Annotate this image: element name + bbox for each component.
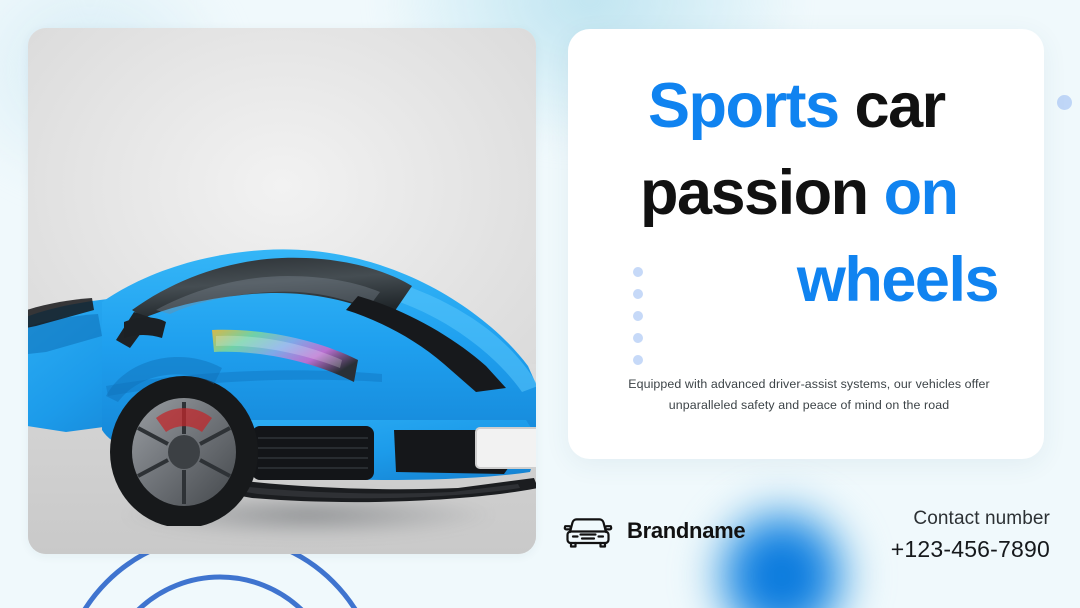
bullet-dots-decoration xyxy=(633,267,643,365)
poster-stage: Sports car passion on wheels Equipped wi… xyxy=(0,0,1080,608)
hero-car-photo xyxy=(28,28,536,554)
bullet-dot-icon xyxy=(633,311,643,321)
body-paragraph: Equipped with advanced driver-assist sys… xyxy=(616,374,1002,416)
headline-line1-dark: car xyxy=(839,71,945,141)
bullet-dot-icon xyxy=(633,267,643,277)
bullet-dot-icon xyxy=(633,355,643,365)
bullet-dot-icon xyxy=(633,333,643,343)
contact-block: Contact number +123-456-7890 xyxy=(891,505,1050,565)
headline-card: Sports car passion on wheels Equipped wi… xyxy=(568,29,1044,459)
brand-name: Brandname xyxy=(627,518,745,544)
page-title: Sports car passion on wheels xyxy=(592,63,1020,324)
contact-number[interactable]: +123-456-7890 xyxy=(891,533,1050,565)
headline-line2-accent: on xyxy=(884,158,958,228)
right-edge-dot-icon xyxy=(1057,95,1072,110)
headline-line2-dark: passion xyxy=(640,158,884,228)
contact-label: Contact number xyxy=(891,505,1050,533)
car-front-icon xyxy=(562,512,614,550)
headline-line3-accent: wheels xyxy=(797,245,998,315)
headline-line1-accent: Sports xyxy=(648,71,839,141)
bullet-dot-icon xyxy=(633,289,643,299)
car-illustration xyxy=(28,206,536,526)
brand-lockup[interactable]: Brandname xyxy=(562,512,745,550)
